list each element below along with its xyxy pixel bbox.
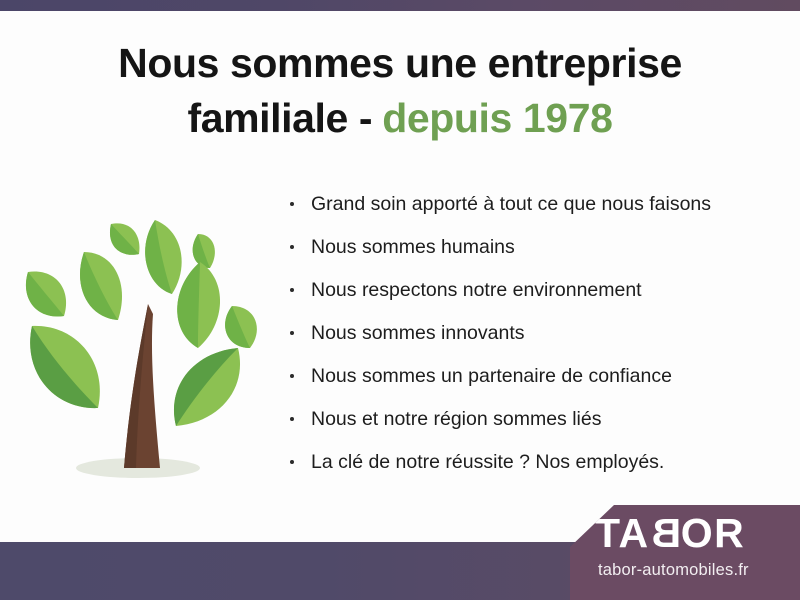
list-item-label: Nous respectons notre environnement — [311, 279, 642, 301]
bullet-dot-icon — [290, 202, 294, 206]
headline-line-2-plain: familiale - — [187, 95, 372, 141]
headline-line-2-accent: depuis 1978 — [382, 95, 612, 141]
bullet-dot-icon — [290, 331, 294, 335]
leaf-upper-left — [80, 252, 122, 320]
brand-tagline: tabor-automobiles.fr — [598, 561, 749, 580]
leaf-lower-right — [174, 348, 240, 426]
headline-line-1: Nous sommes une entreprise — [118, 40, 682, 86]
leaf-top-right-small — [193, 234, 215, 268]
leaf-top-small-left — [110, 223, 139, 254]
wordmark-flipped-b: B — [650, 513, 681, 554]
list-item-label: La clé de notre réussite ? Nos employés. — [311, 451, 664, 473]
list-item-label: Nous sommes innovants — [311, 322, 525, 344]
list-item-label: Nous sommes un partenaire de confiance — [311, 365, 672, 387]
list-item: Nous sommes innovants — [288, 320, 758, 363]
bullet-dot-icon — [290, 460, 294, 464]
brand-wordmark: TABOR — [595, 513, 745, 554]
leaf-upper-right — [177, 262, 220, 348]
leaf-lower-left — [30, 326, 100, 408]
bullet-dot-icon — [290, 288, 294, 292]
bullet-dot-icon — [290, 245, 294, 249]
value-list: Grand soin apporté à tout ce que nous fa… — [288, 191, 758, 492]
wordmark-part-1: TA — [595, 510, 650, 556]
list-item: Grand soin apporté à tout ce que nous fa… — [288, 191, 758, 234]
list-item-label: Nous sommes humains — [311, 236, 515, 258]
leaf-right-small — [225, 306, 257, 348]
list-item-label: Nous et notre région sommes liés — [311, 408, 601, 430]
tree-icon — [14, 196, 266, 484]
list-item: Nous et notre région sommes liés — [288, 406, 758, 449]
list-item-label: Grand soin apporté à tout ce que nous fa… — [311, 193, 711, 215]
bullet-dot-icon — [290, 374, 294, 378]
list-item: Nous sommes humains — [288, 234, 758, 277]
brand-logo-panel[interactable]: TABOR tabor-automobiles.fr — [570, 505, 800, 600]
slide-canvas: Nous sommes une entreprise familiale -de… — [0, 0, 800, 600]
list-item: Nous sommes un partenaire de confiance — [288, 363, 758, 406]
leaf-top-center — [145, 220, 182, 294]
wordmark-part-2: OR — [681, 510, 746, 556]
list-item: Nous respectons notre environnement — [288, 277, 758, 320]
list-item: La clé de notre réussite ? Nos employés. — [288, 449, 758, 492]
page-title: Nous sommes une entreprise familiale -de… — [0, 36, 800, 146]
top-accent-bar — [0, 0, 800, 11]
leaf-left-small — [26, 272, 66, 317]
bullet-dot-icon — [290, 417, 294, 421]
